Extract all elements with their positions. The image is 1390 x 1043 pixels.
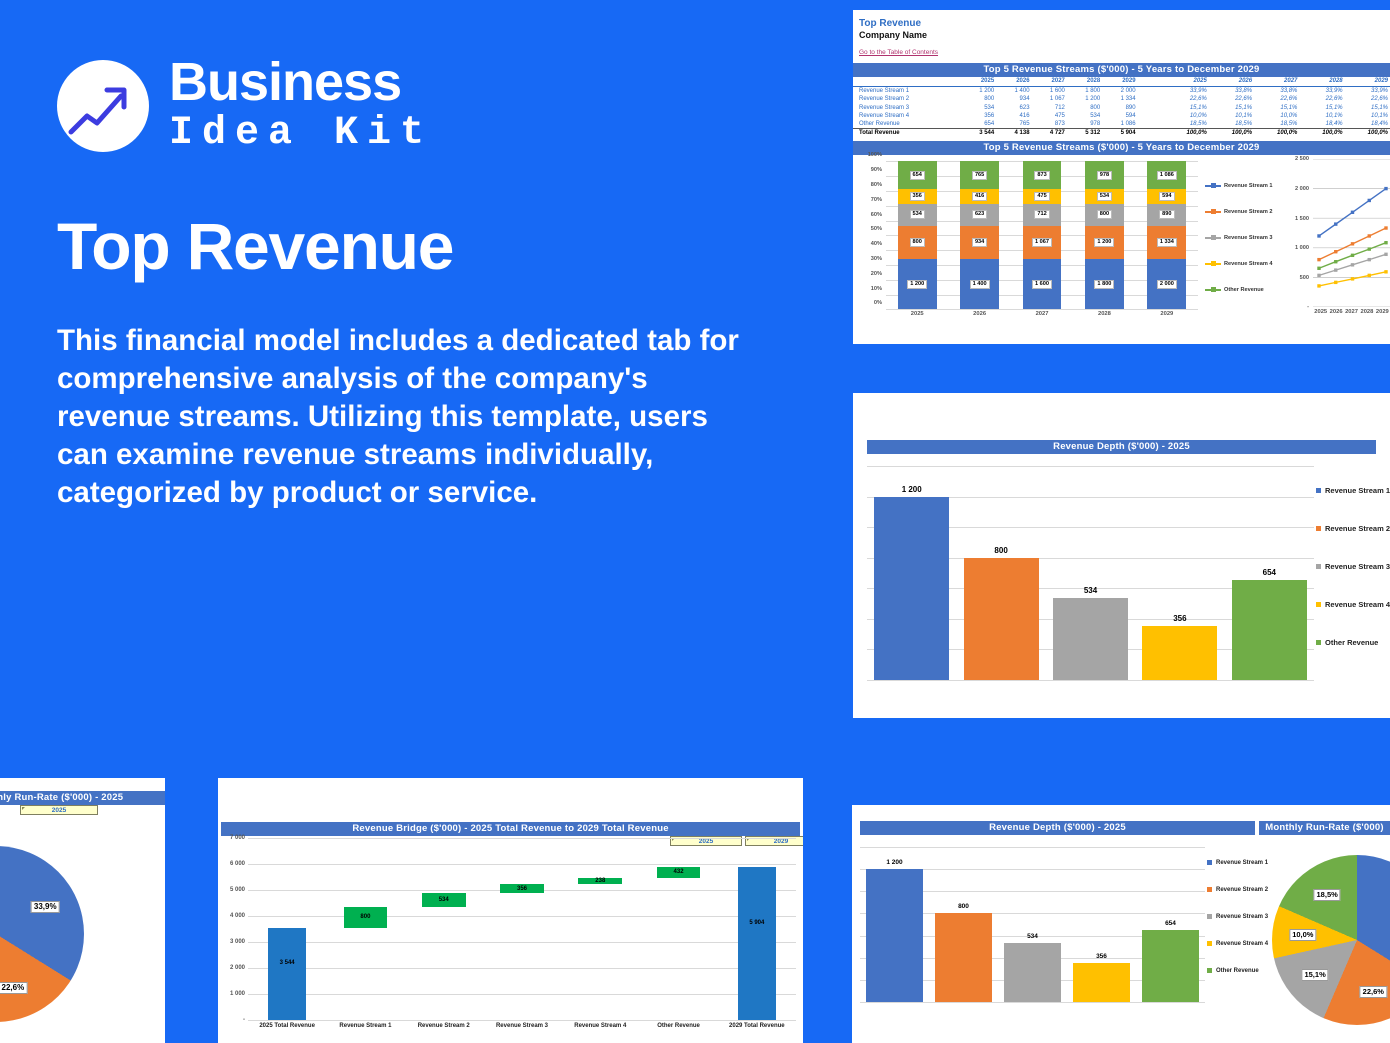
brand-logo: Business Idea Kit [57, 55, 433, 156]
brand-name-line2: Idea Kit [169, 112, 433, 156]
x-tick-label: 2028 [1359, 309, 1374, 315]
bar-value-label: 534 [1097, 192, 1112, 201]
bar-segment: 800 [1085, 204, 1124, 226]
bar-value-label: 654 [1165, 920, 1176, 927]
y-tick-label: - [243, 1017, 245, 1023]
bar-value-label: 534 [1027, 933, 1038, 940]
gridline [860, 1002, 1205, 1003]
y-tick-label: 2 000 [1295, 186, 1309, 192]
bar-value-label: 800 [360, 914, 370, 920]
stacked-column: 9785348001 2001 800 [1073, 161, 1135, 309]
bridge-increase-bar: 534 [422, 893, 466, 907]
depth-bar [1004, 943, 1062, 1002]
depth-columns: 1 200800534356654 [867, 466, 1314, 680]
bar-value-label: 654 [1263, 568, 1276, 577]
depth-bar [1232, 580, 1307, 680]
bar-segment: 873 [1023, 161, 1062, 188]
legend-label: Revenue Stream 1 [1224, 183, 1273, 189]
revenue-depth-title-bar-2: Revenue Depth ($'000) - 2025 [860, 821, 1255, 835]
bar-segment: 534 [898, 204, 937, 226]
pie-slice-label: 15,1% [1301, 969, 1328, 981]
bridge-plot: 3 5448005343562384325 904 [248, 838, 796, 1020]
legend-marker-icon [1316, 488, 1321, 493]
gridline [248, 994, 796, 995]
x-tick-label: 2025 Total Revenue [248, 1023, 326, 1029]
pie-slice-label: 18,5% [1314, 889, 1341, 901]
stacked-column: 1 0865948901 3342 000 [1136, 161, 1198, 309]
stacked-columns: 6543565348001 2007654166239341 400873475… [886, 161, 1198, 309]
depth-column: 534 [1046, 466, 1135, 680]
run-rate-title-bar: Monthly Run-Rate ($'000) - 2025 [0, 791, 165, 805]
bar-value-label: 1 800 [1094, 280, 1114, 289]
x-tick-label: 2025 [886, 311, 948, 317]
legend-item[interactable]: Revenue Stream 3 [1205, 225, 1283, 251]
bridge-total-bar: 5 904 [738, 867, 776, 1021]
depth-bar [964, 558, 1039, 680]
bar-segment: 1 086 [1147, 161, 1186, 188]
revenue-depth-plot: 1 200800534356654 [867, 466, 1314, 680]
bridge-y-axis: -1 0002 0003 0004 0005 0006 0007 000 [218, 838, 248, 1020]
bar-segment: 1 200 [1085, 226, 1124, 259]
legend-item[interactable]: Revenue Stream 2 [1205, 199, 1283, 225]
bar-segment: 1 200 [898, 259, 937, 309]
bar-segment: 765 [960, 161, 999, 188]
y-tick-label: 4 000 [230, 913, 245, 919]
brand-name-line1: Business [169, 55, 433, 110]
promo-description: This financial model includes a dedicate… [57, 322, 762, 512]
stacked-chart-legend: Revenue Stream 1Revenue Stream 2Revenue … [1205, 173, 1283, 303]
x-tick-label: Other Revenue [639, 1023, 717, 1029]
legend-marker-icon [1207, 860, 1212, 865]
depth-bar [1142, 626, 1217, 680]
bar-value-label: 654 [910, 171, 925, 180]
table-row: 2025202620272028202920252026202720282029 [853, 77, 1390, 87]
bridge-total-bar: 3 544 [268, 928, 306, 1020]
depth-bar [874, 497, 949, 680]
legend-marker-icon [1316, 640, 1321, 645]
stacked-column: 8734757121 0671 600 [1011, 161, 1073, 309]
x-tick-label: 2025 [1313, 309, 1328, 315]
depth-column: 800 [956, 466, 1045, 680]
bar-value-label: 890 [1159, 210, 1174, 219]
y-tick-label: 20% [871, 271, 882, 277]
legend-item[interactable]: Revenue Stream 4 [1316, 585, 1388, 623]
bar-segment: 1 334 [1147, 226, 1186, 259]
bar-value-label: 1 600 [1032, 280, 1052, 289]
revenue-bridge-title-bar: Revenue Bridge ($'000) - 2025 Total Reve… [221, 822, 800, 836]
bridge-increase-bar: 238 [578, 878, 622, 884]
y-tick-label: 100% [868, 152, 882, 158]
bridge-x-axis: 2025 Total RevenueRevenue Stream 1Revenu… [248, 1023, 796, 1029]
bar-segment: 800 [898, 226, 937, 259]
legend-item[interactable]: Revenue Stream 4 [1207, 930, 1267, 957]
y-tick-label: 50% [871, 226, 882, 232]
revenue-depth-legend: Revenue Stream 1Revenue Stream 2Revenue … [1316, 471, 1388, 661]
sheet-subtitle: Company Name [859, 30, 1390, 41]
y-tick-label: 2 500 [1295, 156, 1309, 162]
gridline [248, 864, 796, 865]
bar-segment: 534 [1085, 189, 1124, 204]
legend-marker-icon [1207, 887, 1212, 892]
x-tick-label: 2028 [1073, 311, 1135, 317]
depth-column: 654 [1225, 466, 1314, 680]
y-tick-label: 60% [871, 212, 882, 218]
bar-value-label: 3 544 [280, 960, 295, 966]
bar-value-label: 2 000 [1157, 280, 1177, 289]
legend-item[interactable]: Revenue Stream 1 [1205, 173, 1283, 199]
line-chart-x-axis: 20252026202720282029 [1313, 309, 1390, 315]
gridline [248, 968, 796, 969]
line-chart: -5001 0001 5002 0002 500 202520262027202… [1285, 159, 1390, 334]
legend-item[interactable]: Revenue Stream 1 [1207, 849, 1267, 876]
pie-slice-label: 10,0% [1289, 929, 1316, 941]
bar-value-label: 1 334 [1157, 238, 1177, 247]
stacked-chart-x-axis: 20252026202720282029 [886, 311, 1198, 317]
bar-segment: 978 [1085, 161, 1124, 188]
bar-value-label: 712 [1034, 210, 1049, 219]
gridline [867, 680, 1314, 681]
table-title-bar-wrap: Top 5 Revenue Streams ($'000) - 5 Years … [853, 63, 1390, 77]
bar-segment: 1 400 [960, 259, 999, 309]
stacked-bar-chart: 0%10%20%30%40%50%60%70%80%90%100% 654356… [853, 155, 1390, 333]
promo-panel: Business Idea Kit Top Revenue This finan… [0, 0, 840, 780]
table-row: Revenue Stream 11 2001 4001 6001 8002 00… [853, 87, 1390, 96]
line-chart-plot [1313, 159, 1390, 307]
depth-column: 800 [929, 847, 998, 1002]
bar-value-label: 800 [994, 546, 1007, 555]
bar-value-label: 1 200 [907, 280, 927, 289]
monthly-run-rate-panel-left: Monthly Run-Rate ($'000) - 2025 2025 33,… [0, 778, 165, 1043]
bar-segment: 356 [898, 189, 937, 204]
legend-item[interactable]: Revenue Stream 2 [1207, 876, 1267, 903]
legend-marker-icon [1207, 941, 1212, 946]
legend-marker-icon [1205, 211, 1221, 213]
legend-marker-icon [1205, 237, 1221, 239]
revenue-streams-table: 2025202620272028202920252026202720282029… [853, 77, 1390, 137]
bar-value-label: 800 [910, 238, 925, 247]
bar-segment: 1 800 [1085, 259, 1124, 309]
pie-slice-label: 22,6% [0, 982, 27, 994]
table-row: Revenue Stream 28009341 0671 2001 33422,… [853, 95, 1390, 103]
y-tick-label: 5 000 [230, 887, 245, 893]
bar-value-label: 534 [1084, 586, 1097, 595]
y-tick-label: 10% [871, 286, 882, 292]
legend-item[interactable]: Other Revenue [1205, 277, 1283, 303]
bar-value-label: 873 [1034, 171, 1049, 180]
bar-value-label: 1 067 [1032, 238, 1052, 247]
x-tick-label: 2026 [948, 311, 1010, 317]
legend-item[interactable]: Revenue Stream 3 [1207, 903, 1267, 930]
legend-label: Revenue Stream 1 [1216, 860, 1268, 866]
bar-segment: 934 [960, 226, 999, 259]
bar-value-label: 1 200 [1094, 238, 1114, 247]
legend-label: Revenue Stream 2 [1224, 209, 1273, 215]
depth-column: 356 [1135, 466, 1224, 680]
bar-segment: 654 [898, 161, 937, 188]
y-tick-label: 80% [871, 182, 882, 188]
legend-marker-icon [1205, 263, 1221, 265]
revenue-bridge-panel: Revenue Bridge ($'000) - 2025 Total Reve… [218, 778, 803, 1043]
y-tick-label: 1 000 [1295, 245, 1309, 251]
legend-label: Revenue Stream 1 [1325, 486, 1390, 495]
legend-marker-icon [1316, 526, 1321, 531]
sheet-header: Top Revenue Company Name Go to the Table… [853, 10, 1390, 59]
spreadsheet-panel-top: Top Revenue Company Name Go to the Table… [853, 10, 1390, 344]
legend-item[interactable]: Revenue Stream 3 [1316, 547, 1388, 585]
legend-item[interactable]: Other Revenue [1316, 623, 1388, 661]
legend-label: Other Revenue [1325, 638, 1378, 647]
bar-value-label: 765 [972, 171, 987, 180]
bar-segment: 1 067 [1023, 226, 1062, 259]
revenue-depth-chart: Revenue Depth ($'000) - 2025 1 200800534… [853, 393, 1390, 718]
bar-segment: 475 [1023, 189, 1062, 204]
table-row: Total Revenue3 5444 1384 7275 3125 90410… [853, 129, 1390, 138]
legend-item[interactable]: Revenue Stream 4 [1205, 251, 1283, 277]
gridline [248, 942, 796, 943]
legend-label: Other Revenue [1224, 287, 1264, 293]
table-of-contents-link[interactable]: Go to the Table of Contents [859, 48, 938, 58]
y-tick-label: 40% [871, 241, 882, 247]
line-chart-y-axis: -5001 0001 5002 0002 500 [1285, 159, 1311, 307]
growth-chart-arrow-icon [57, 60, 149, 152]
legend-marker-icon [1207, 968, 1212, 973]
bar-value-label: 432 [674, 869, 684, 875]
depth-column: 654 [1136, 847, 1205, 1002]
gridline [886, 309, 1198, 310]
x-tick-label: 2029 [1375, 309, 1390, 315]
legend-label: Other Revenue [1216, 968, 1259, 974]
y-tick-label: 3 000 [230, 939, 245, 945]
table-title-bar: Top 5 Revenue Streams ($'000) - 5 Years … [853, 63, 1390, 77]
depth-columns: 1 200800534356654 [860, 847, 1205, 1002]
stacked-column: 6543565348001 200 [886, 161, 948, 309]
bar-value-label: 594 [1159, 192, 1174, 201]
bridge-increase-bar: 800 [344, 907, 388, 928]
legend-marker-icon [1316, 602, 1321, 607]
x-tick-label: 2029 Total Revenue [718, 1023, 796, 1029]
legend-label: Revenue Stream 3 [1224, 235, 1273, 241]
bar-value-label: 534 [910, 210, 925, 219]
bridge-increase-bar: 356 [500, 884, 544, 893]
x-tick-label: Revenue Stream 3 [483, 1023, 561, 1029]
stacked-chart-y-axis: 0%10%20%30%40%50%60%70%80%90%100% [853, 155, 884, 309]
bar-value-label: 238 [595, 878, 605, 884]
bar-value-label: 1 400 [970, 280, 990, 289]
y-tick-label: 30% [871, 256, 882, 262]
run-rate-pie-chart: 33,9%22,6%15,1%10,0%18,5% [0, 846, 84, 1022]
y-tick-label: - [1307, 304, 1309, 310]
year-dropdown[interactable]: 2025 [20, 805, 98, 815]
y-tick-label: 6 000 [230, 861, 245, 867]
line-chart-svg [1313, 159, 1390, 307]
y-tick-label: 2 000 [230, 965, 245, 971]
y-tick-label: 7 000 [230, 835, 245, 841]
gridline [248, 1020, 796, 1021]
bar-value-label: 934 [972, 238, 987, 247]
pie-slice-label: 33,9% [31, 901, 60, 913]
legend-marker-icon [1316, 564, 1321, 569]
x-tick-label: 2027 [1344, 309, 1359, 315]
bar-segment: 1 600 [1023, 259, 1062, 309]
chart-title-bar: Top 5 Revenue Streams ($'000) - 5 Years … [853, 141, 1390, 155]
sheet-title: Top Revenue [859, 18, 1390, 30]
table-row: Revenue Stream 353462371280089015,1%15,1… [853, 104, 1390, 112]
bar-value-label: 1 200 [902, 485, 922, 494]
legend-item[interactable]: Revenue Stream 1 [1316, 471, 1388, 509]
x-tick-label: Revenue Stream 4 [561, 1023, 639, 1029]
y-tick-label: 500 [1300, 275, 1309, 281]
bar-segment: 712 [1023, 204, 1062, 226]
revenue-depth-legend-2: Revenue Stream 1Revenue Stream 2Revenue … [1207, 849, 1267, 984]
legend-label: Revenue Stream 4 [1216, 941, 1268, 947]
bar-segment: 890 [1147, 204, 1186, 226]
legend-label: Revenue Stream 3 [1216, 914, 1268, 920]
legend-item[interactable]: Revenue Stream 2 [1316, 509, 1388, 547]
revenue-depth-plot-2: 1 200800534356654 [860, 847, 1205, 1002]
bar-value-label: 1 200 [886, 859, 902, 866]
bottom-right-panel: Revenue Depth ($'000) - 2025 Monthly Run… [852, 805, 1390, 1043]
gridline [248, 838, 796, 839]
legend-marker-icon [1207, 914, 1212, 919]
bar-value-label: 1 086 [1157, 171, 1177, 180]
depth-bar [1142, 930, 1200, 1002]
legend-marker-icon [1205, 185, 1221, 187]
x-tick-label: 2027 [1011, 311, 1073, 317]
legend-marker-icon [1205, 289, 1221, 291]
x-tick-label: 2029 [1136, 311, 1198, 317]
depth-column: 534 [998, 847, 1067, 1002]
stacked-column: 7654166239341 400 [948, 161, 1010, 309]
bar-segment: 416 [960, 189, 999, 204]
bar-segment: 623 [960, 204, 999, 226]
depth-bar [935, 913, 993, 1002]
bar-value-label: 356 [910, 192, 925, 201]
depth-bar [866, 869, 924, 1002]
bar-value-label: 356 [517, 886, 527, 892]
revenue-depth-title-bar: Revenue Depth ($'000) - 2025 [867, 440, 1376, 454]
x-tick-label: Revenue Stream 1 [326, 1023, 404, 1029]
depth-column: 356 [1067, 847, 1136, 1002]
legend-label: Revenue Stream 3 [1325, 562, 1390, 571]
depth-column: 1 200 [860, 847, 929, 1002]
pie-slices [0, 846, 84, 1022]
bar-value-label: 978 [1097, 171, 1112, 180]
legend-label: Revenue Stream 2 [1216, 887, 1268, 893]
legend-label: Revenue Stream 2 [1325, 524, 1390, 533]
run-rate-title-bar-2: Monthly Run-Rate ($'000) [1259, 821, 1390, 835]
stacked-chart-plot: 6543565348001 2007654166239341 400873475… [886, 161, 1198, 309]
x-tick-label: Revenue Stream 2 [405, 1023, 483, 1029]
bar-value-label: 475 [1034, 192, 1049, 201]
table-row: Other Revenue6547658739781 08618,5%18,5%… [853, 120, 1390, 129]
bar-value-label: 800 [1097, 210, 1112, 219]
bar-value-label: 623 [972, 210, 987, 219]
revenue-depth-panel: Revenue Depth ($'000) - 2025 1 200800534… [853, 393, 1390, 718]
depth-bar [1073, 963, 1131, 1002]
y-tick-label: 1 000 [230, 991, 245, 997]
y-tick-label: 90% [871, 167, 882, 173]
gridline [248, 916, 796, 917]
y-tick-label: 1 500 [1295, 216, 1309, 222]
depth-bar [1053, 598, 1128, 680]
bar-segment: 594 [1147, 189, 1186, 204]
bridge-increase-bar: 432 [657, 867, 701, 878]
bar-value-label: 356 [1096, 953, 1107, 960]
bar-value-label: 356 [1173, 614, 1186, 623]
legend-item[interactable]: Other Revenue [1207, 957, 1267, 984]
x-tick-label: 2026 [1328, 309, 1343, 315]
bar-value-label: 534 [439, 897, 449, 903]
table-row: Revenue Stream 435641647553459410,0%10,1… [853, 112, 1390, 120]
y-tick-label: 70% [871, 197, 882, 203]
pie-slice-label: 22,6% [1360, 986, 1387, 998]
legend-label: Revenue Stream 4 [1224, 261, 1273, 267]
bar-value-label: 416 [972, 192, 987, 201]
bar-segment: 2 000 [1147, 259, 1186, 309]
y-tick-label: 0% [874, 300, 882, 306]
bar-value-label: 800 [958, 903, 969, 910]
legend-label: Revenue Stream 4 [1325, 600, 1390, 609]
depth-column: 1 200 [867, 466, 956, 680]
bar-value-label: 5 904 [749, 920, 764, 926]
page-title: Top Revenue [57, 208, 453, 284]
run-rate-pie-chart-2: 33,9%22,6%15,1%10,0%18,5% [1272, 855, 1390, 1025]
